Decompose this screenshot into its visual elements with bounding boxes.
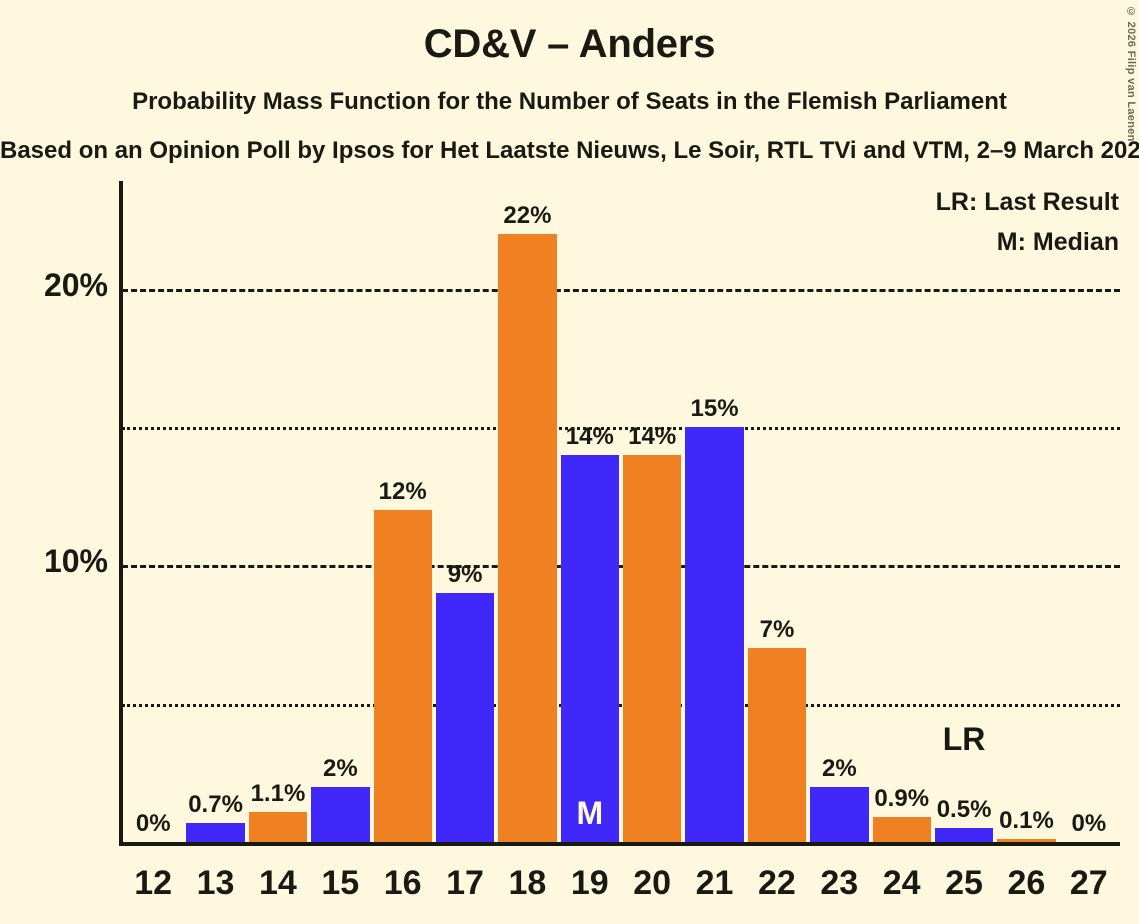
plot-area: 0%0.7%1.1%2%12%9%22%14%M14%15%7%2%0.9%0.… [119,181,1120,846]
bar[interactable] [623,455,681,842]
x-axis-label-27: 27 [1058,864,1120,903]
bar[interactable] [249,812,307,842]
chart-source-line: Based on an Opinion Poll by Ipsos for He… [0,137,1139,165]
bar[interactable] [561,455,619,842]
bar-column[interactable]: 9% [434,181,496,842]
x-axis-label-18: 18 [496,864,558,903]
bar-column[interactable]: 0% [1058,181,1120,842]
bar-column[interactable]: 0.1% [995,181,1057,842]
bar[interactable] [498,234,556,842]
x-axis-label-25: 25 [933,864,995,903]
bar-column[interactable]: 2% [309,181,371,842]
x-axis-label-24: 24 [871,864,933,903]
chart-subtitle: Probability Mass Function for the Number… [0,88,1139,116]
bar-column[interactable]: 0.5%LR [933,181,995,842]
y-axis-label-10: 10% [0,543,108,580]
x-axis-label-26: 26 [995,864,1057,903]
x-axis-label-19: 19 [559,864,621,903]
bar[interactable] [748,648,806,842]
y-axis-label-20: 20% [0,267,108,304]
bar[interactable] [311,787,369,842]
bar-column[interactable]: 0.7% [184,181,246,842]
chart-title: CD&V – Anders [0,22,1139,67]
bar-column[interactable]: 2% [808,181,870,842]
x-axis-label-12: 12 [122,864,184,903]
x-axis-label-13: 13 [184,864,246,903]
bar-value-label: 0% [1040,810,1138,838]
x-axis-label-14: 14 [247,864,309,903]
bar-column[interactable]: 7% [746,181,808,842]
x-axis-label-23: 23 [808,864,870,903]
x-axis-label-22: 22 [746,864,808,903]
bar-column[interactable]: 0% [122,181,184,842]
bar-column[interactable]: 1.1% [247,181,309,842]
bar-column[interactable]: 22% [496,181,558,842]
bar-column[interactable]: 12% [372,181,434,842]
x-axis-label-21: 21 [683,864,745,903]
x-axis-label-15: 15 [309,864,371,903]
median-marker: M [559,795,621,832]
bar[interactable] [997,839,1055,842]
x-axis-label-17: 17 [434,864,496,903]
bar-column[interactable]: 14%M [559,181,621,842]
chart-root: © 2026 Filip van Laenen CD&V – Anders Pr… [0,0,1139,924]
x-axis-tick-labels: 12131415161718192021222324252627 [122,864,1120,920]
bar-column[interactable]: 14% [621,181,683,842]
bar[interactable] [436,593,494,842]
bar[interactable] [186,823,244,842]
x-axis-line [119,842,1120,846]
x-axis-label-20: 20 [621,864,683,903]
x-axis-label-16: 16 [372,864,434,903]
bar-column[interactable]: 15% [683,181,745,842]
bar-series: 0%0.7%1.1%2%12%9%22%14%M14%15%7%2%0.9%0.… [122,181,1120,842]
bar[interactable] [374,510,432,842]
